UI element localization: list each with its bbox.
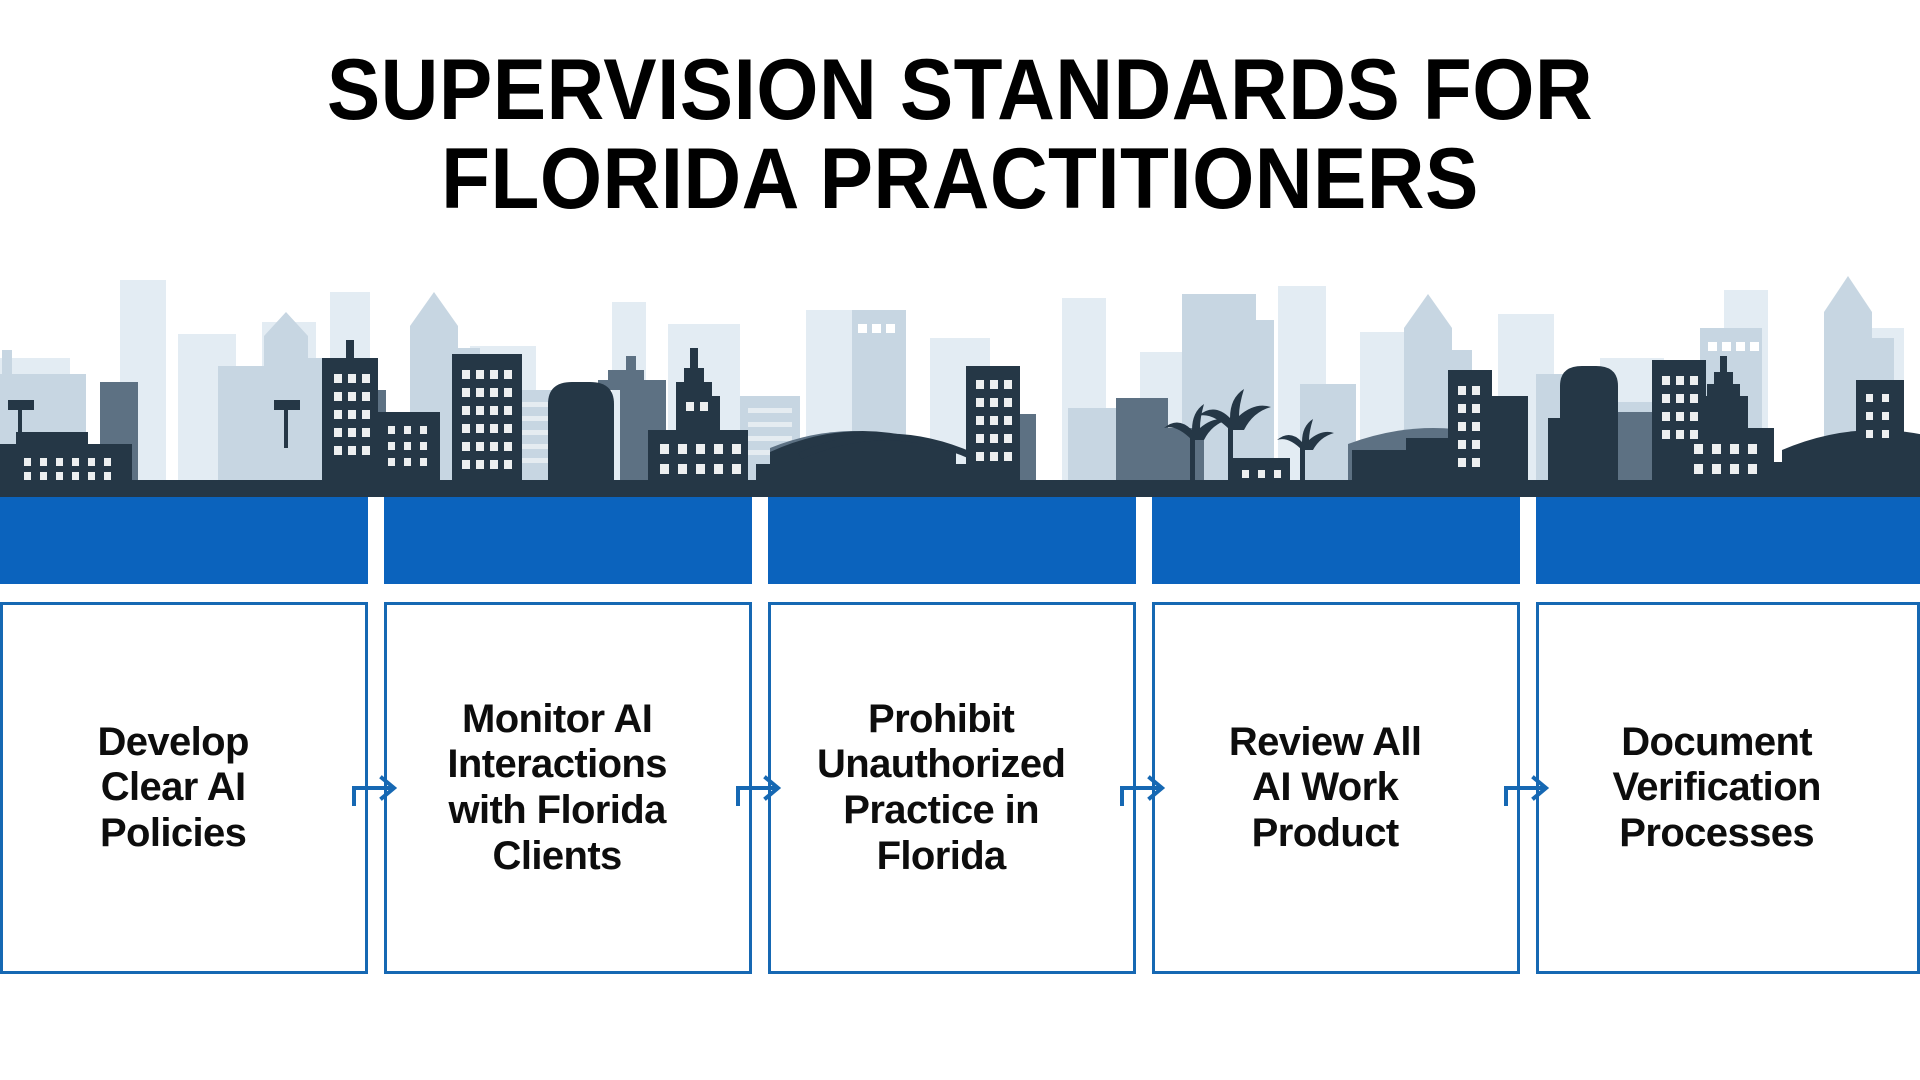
blue-band-5	[1536, 497, 1920, 584]
step-box-5[interactable]: Document Verification Processes	[1536, 602, 1920, 974]
page-title-line-1: SUPERVISION STANDARDS FOR	[67, 46, 1853, 135]
city-skyline-illustration	[0, 262, 1920, 497]
step-box-2[interactable]: Monitor AI Interactions with Florida Cli…	[384, 602, 752, 974]
process-step-2[interactable]: Monitor AI Interactions with Florida Cli…	[384, 602, 768, 974]
step-box-3[interactable]: Prohibit Unauthorized Practice in Florid…	[768, 602, 1136, 974]
step-box-4[interactable]: Review All AI Work Product	[1152, 602, 1520, 974]
process-step-5[interactable]: Document Verification Processes	[1536, 602, 1920, 974]
step-label-5: Document Verification Processes	[1516, 720, 1917, 857]
step-label-2: Monitor AI Interactions with Florida Cli…	[365, 697, 749, 879]
blue-band-4	[1152, 497, 1536, 584]
process-step-1[interactable]: Develop Clear AI Policies	[0, 602, 384, 974]
step-box-1[interactable]: Develop Clear AI Policies	[0, 602, 368, 974]
process-step-4[interactable]: Review All AI Work Product	[1152, 602, 1536, 974]
step-label-4: Review All AI Work Product	[1133, 720, 1517, 857]
process-step-3[interactable]: Prohibit Unauthorized Practice in Florid…	[768, 602, 1152, 974]
step-label-3: Prohibit Unauthorized Practice in Florid…	[749, 697, 1133, 879]
page-title-line-2: FLORIDA PRACTITIONERS	[67, 135, 1853, 224]
blue-band-2	[384, 497, 768, 584]
step-label-1: Develop Clear AI Policies	[0, 720, 365, 857]
blue-band-row	[0, 497, 1920, 584]
blue-band-1	[0, 497, 384, 584]
page-title: SUPERVISION STANDARDS FOR FLORIDA PRACTI…	[0, 46, 1920, 223]
blue-band-3	[768, 497, 1152, 584]
process-steps-row: Develop Clear AI Policies Monitor AI Int…	[0, 602, 1920, 974]
